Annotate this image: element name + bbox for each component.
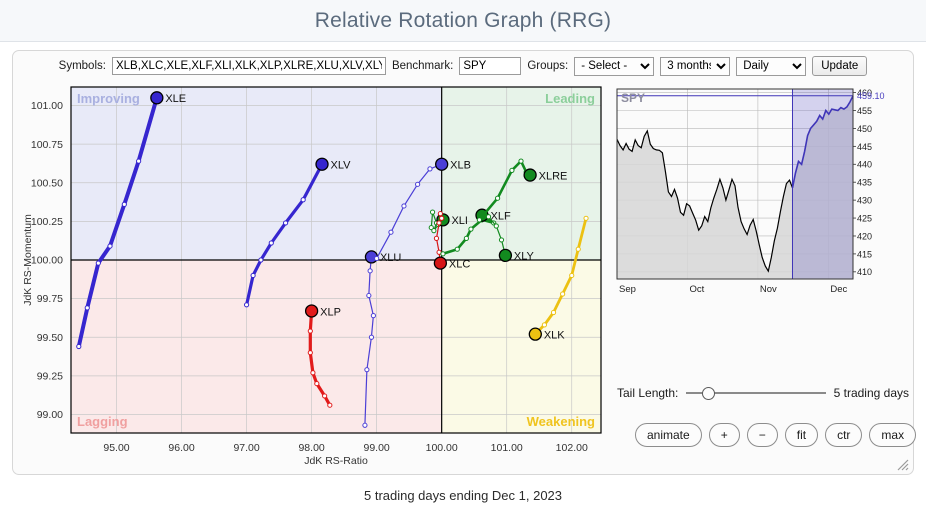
series-tail-point <box>251 273 255 277</box>
series-tail-point <box>308 351 312 355</box>
series-tail-point <box>269 241 273 245</box>
quadrant-lagging <box>71 260 442 433</box>
series-tail-point <box>137 159 141 163</box>
series-tail-point <box>510 168 514 172</box>
quadrant-label-improving: Improving <box>77 91 140 106</box>
series-tail-point <box>576 247 580 251</box>
fit-button[interactable]: fit <box>785 423 818 447</box>
y-tick-label: 100.25 <box>31 216 63 228</box>
series-tail-point <box>301 198 305 202</box>
y-tick-label: 100.00 <box>31 255 63 267</box>
spy-price-chart: SPY410415420425430435440445450455460459.… <box>609 83 911 313</box>
x-tick-label: 99.00 <box>364 442 390 454</box>
quadrant-label-weakening: Weakening <box>527 414 595 429</box>
rrg-plot-svg: ImprovingLeadingLaggingWeakeningXLEXLVXL… <box>17 83 605 471</box>
series-tail-point <box>561 292 565 296</box>
series-tail-point <box>77 344 81 348</box>
series-tail-point <box>122 202 126 206</box>
spy-y-tick-label: 430 <box>857 196 872 206</box>
series-tail-point <box>469 227 473 231</box>
spy-x-tick-label: Nov <box>760 284 777 295</box>
series-tail-point <box>441 252 445 256</box>
series-tail-point <box>430 210 434 214</box>
series-tail-point <box>365 368 369 372</box>
series-tail-point <box>315 381 319 385</box>
series-tail-point <box>570 273 574 277</box>
series-tail-point <box>108 244 112 248</box>
x-tick-label: 100.00 <box>426 442 458 454</box>
spy-y-tick-label: 420 <box>857 231 872 241</box>
series-tail-point <box>311 371 315 375</box>
tail-length-slider[interactable] <box>686 386 825 400</box>
series-tail-point <box>494 224 498 228</box>
series-tail-point <box>499 238 503 242</box>
spy-y-tick-label: 445 <box>857 142 872 152</box>
series-tail-point <box>96 261 100 265</box>
series-tail-point <box>375 256 379 260</box>
series-head-marker[interactable] <box>436 158 448 170</box>
series-tail-point <box>434 236 438 240</box>
series-tail-point <box>328 403 332 407</box>
series-tail-point <box>551 310 555 314</box>
tail-length-label: Tail Length: <box>617 386 678 400</box>
period-select[interactable]: 3 months <box>660 57 730 76</box>
series-head-marker[interactable] <box>529 328 541 340</box>
series-head-marker[interactable] <box>524 169 536 181</box>
series-label: XLI <box>451 215 468 227</box>
series-label: XLP <box>320 306 341 318</box>
spy-x-tick-label: Dec <box>830 284 847 295</box>
benchmark-input[interactable] <box>459 57 521 75</box>
max-button[interactable]: max <box>869 423 916 447</box>
decrease-button[interactable]: − <box>747 423 778 447</box>
series-tail-point <box>416 182 420 186</box>
series-tail-point <box>259 258 263 262</box>
spy-y-tick-label: 410 <box>857 267 872 277</box>
series-tail-point <box>584 216 588 220</box>
series-tail-point <box>542 323 546 327</box>
y-tick-label: 100.75 <box>31 139 63 151</box>
slider-knob[interactable] <box>702 387 715 400</box>
series-tail-point <box>455 247 459 251</box>
x-tick-label: 98.00 <box>298 442 324 454</box>
series-tail-point <box>371 314 375 318</box>
x-tick-label: 102.00 <box>556 442 588 454</box>
symbols-input[interactable] <box>112 57 386 75</box>
groups-select[interactable]: - Select - <box>574 57 654 76</box>
y-tick-label: 99.75 <box>37 293 63 305</box>
spy-x-tick-label: Sep <box>619 284 636 295</box>
series-tail-point <box>496 196 500 200</box>
quadrant-leading <box>442 87 601 260</box>
spy-y-tick-label: 455 <box>857 106 872 116</box>
x-tick-label: 95.00 <box>103 442 129 454</box>
series-tail-point <box>85 306 89 310</box>
spy-y-tick-label: 435 <box>857 178 872 188</box>
series-label: XLY <box>514 251 535 263</box>
series-tail-point <box>437 221 441 225</box>
series-head-marker[interactable] <box>316 158 328 170</box>
chart-action-buttons: animate + − fit ctr max <box>635 423 916 447</box>
spy-chart-title: SPY <box>621 91 645 105</box>
quadrant-label-leading: Leading <box>545 91 595 106</box>
series-label: XLF <box>490 211 510 223</box>
spy-plot-svg: SPY410415420425430435440445450455460459.… <box>609 83 911 313</box>
quadrant-weakening <box>442 260 601 433</box>
series-label: XLC <box>449 258 470 270</box>
quadrant-improving <box>71 87 442 260</box>
series-tail-point <box>389 230 393 234</box>
animate-button[interactable]: animate <box>635 423 702 447</box>
x-axis-label: JdK RS-Ratio <box>304 455 368 467</box>
series-tail-point <box>519 159 523 163</box>
series-tail-point <box>367 293 371 297</box>
series-label: XLE <box>165 93 186 105</box>
symbols-label: Symbols: <box>59 60 106 72</box>
series-label: XLRE <box>539 170 568 182</box>
spy-last-price-label: 459.10 <box>857 91 885 101</box>
y-tick-label: 100.50 <box>31 177 63 189</box>
quadrant-label-lagging: Lagging <box>77 414 128 429</box>
panel-body: ImprovingLeadingLaggingWeakeningXLEXLVXL… <box>13 81 913 474</box>
tail-length-control: Tail Length: 5 trading days <box>617 383 909 403</box>
series-tail-point <box>464 236 468 240</box>
increase-button[interactable]: + <box>709 423 740 447</box>
y-axis-label: JdK RS-Momentum <box>22 214 34 306</box>
series-label: XLB <box>450 160 471 172</box>
series-tail-point <box>369 335 373 339</box>
groups-label: Groups: <box>527 60 568 72</box>
chart-caption: 5 trading days ending Dec 1, 2023 <box>0 488 926 503</box>
tail-length-value: 5 trading days <box>834 386 909 400</box>
series-tail-point <box>402 204 406 208</box>
series-tail-point <box>244 303 248 307</box>
series-tail-point <box>284 221 288 225</box>
series-head-marker[interactable] <box>499 249 511 261</box>
app-header: Relative Rotation Graph (RRG) <box>0 0 926 42</box>
series-label: XLK <box>544 329 565 341</box>
x-tick-label: 101.00 <box>491 442 523 454</box>
x-tick-label: 97.00 <box>233 442 259 454</box>
series-label: XLU <box>380 252 401 264</box>
frequency-select[interactable]: Daily <box>736 57 806 76</box>
spy-y-tick-label: 415 <box>857 249 872 259</box>
center-button[interactable]: ctr <box>825 423 862 447</box>
y-tick-label: 99.00 <box>37 409 63 421</box>
series-tail-point <box>308 329 312 333</box>
page-title: Relative Rotation Graph (RRG) <box>315 9 611 33</box>
spy-y-tick-label: 425 <box>857 213 872 223</box>
resize-grip-icon[interactable] <box>895 457 909 471</box>
series-label: XLV <box>331 160 352 172</box>
series-tail-point <box>477 218 481 222</box>
y-tick-label: 99.25 <box>37 370 63 382</box>
spy-x-tick-label: Oct <box>689 284 704 295</box>
y-tick-label: 101.00 <box>31 100 63 112</box>
series-tail-point <box>363 423 367 427</box>
series-tail-point <box>432 229 436 233</box>
x-tick-label: 96.00 <box>168 442 194 454</box>
series-tail-point <box>486 215 490 219</box>
series-tail-point <box>440 216 444 220</box>
series-tail-point <box>368 269 372 273</box>
y-tick-label: 99.50 <box>37 332 63 344</box>
rrg-app-panel: Symbols: Benchmark: Groups: - Select - 3… <box>12 50 914 475</box>
series-tail-point <box>323 394 327 398</box>
right-column: SPY410415420425430435440445450455460459.… <box>609 83 911 471</box>
update-button[interactable]: Update <box>812 56 867 76</box>
series-tail-point <box>428 167 432 171</box>
rrg-chart: ImprovingLeadingLaggingWeakeningXLEXLVXL… <box>17 83 605 471</box>
toolbar: Symbols: Benchmark: Groups: - Select - 3… <box>13 51 913 81</box>
spy-y-tick-label: 450 <box>857 124 872 134</box>
series-head-marker[interactable] <box>434 257 446 269</box>
spy-y-tick-label: 440 <box>857 160 872 170</box>
series-tail-point <box>438 212 442 216</box>
benchmark-label: Benchmark: <box>392 60 453 72</box>
series-head-marker[interactable] <box>151 92 163 104</box>
series-head-marker[interactable] <box>306 305 318 317</box>
